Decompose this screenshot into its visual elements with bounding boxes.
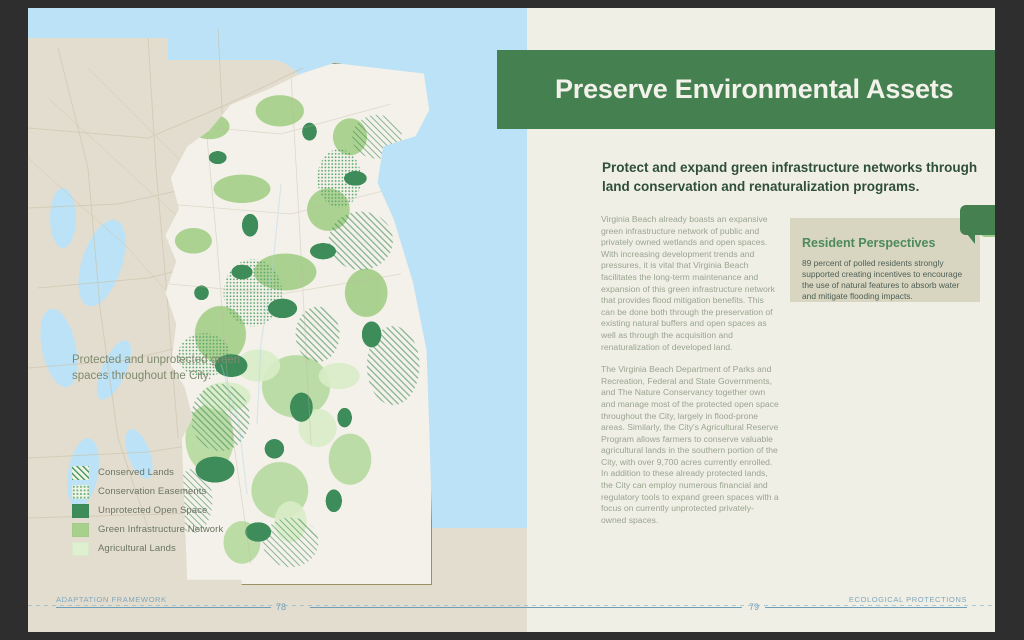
- section-subheading: Protect and expand green infrastructure …: [602, 158, 987, 196]
- footer-section-label: ECOLOGICAL PROTECTIONS: [849, 595, 967, 604]
- body-text-column: Virginia Beach already boasts an expansi…: [601, 214, 779, 537]
- spread-footer: ADAPTATION FRAMEWORK 78 ECOLOGICAL PROTE…: [28, 592, 995, 632]
- footer-rule: [56, 607, 271, 608]
- legend-label: Agricultural Lands: [98, 543, 176, 554]
- legend-item-conserved-lands: Conserved Lands: [72, 463, 223, 482]
- right-page: Preserve Environmental Assets Protect an…: [527, 8, 995, 632]
- legend-swatch-icon: [72, 523, 89, 537]
- legend-swatch-icon: [72, 542, 89, 556]
- callout-body: 89 percent of polled residents strongly …: [802, 258, 970, 302]
- body-paragraph: The Virginia Beach Department of Parks a…: [601, 364, 779, 526]
- legend-item-agricultural-lands: Agricultural Lands: [72, 539, 223, 558]
- body-paragraph: Virginia Beach already boasts an expansi…: [601, 214, 779, 353]
- legend-swatch-icon: [72, 485, 89, 499]
- legend-item-conservation-easements: Conservation Easements: [72, 482, 223, 501]
- callout-title: Resident Perspectives: [802, 236, 935, 250]
- footer-rule: [527, 607, 742, 608]
- document-viewer: Protected and unprotected green spaces t…: [0, 0, 1024, 640]
- speech-bubble-front-icon: [960, 205, 995, 235]
- speech-bubbles-icon: [960, 205, 995, 249]
- map-caption: Protected and unprotected green spaces t…: [72, 353, 242, 384]
- legend-label: Green Infrastructure Network: [98, 524, 223, 535]
- footer-rule: [765, 607, 967, 608]
- page-title: Preserve Environmental Assets: [555, 50, 975, 129]
- footer-section-label: ADAPTATION FRAMEWORK: [56, 595, 167, 604]
- legend-label: Conserved Lands: [98, 467, 174, 478]
- page-number: 78: [276, 602, 286, 612]
- map-legend: Conserved Lands Conservation Easements U…: [72, 463, 223, 558]
- legend-swatch-icon: [72, 466, 89, 480]
- legend-label: Unprotected Open Space: [98, 505, 207, 516]
- right-page-footer: ECOLOGICAL PROTECTIONS 79: [527, 592, 995, 632]
- left-page-footer: ADAPTATION FRAMEWORK 78: [28, 592, 527, 632]
- footer-rule: [310, 607, 527, 608]
- legend-label: Conservation Easements: [98, 486, 206, 497]
- page-number: 79: [749, 602, 759, 612]
- page-spread: Protected and unprotected green spaces t…: [28, 8, 995, 632]
- legend-swatch-icon: [72, 504, 89, 518]
- legend-item-unprotected-open-space: Unprotected Open Space: [72, 501, 223, 520]
- resident-perspectives-callout: Resident Perspectives 89 percent of poll…: [790, 218, 980, 302]
- section-title-bar: Preserve Environmental Assets: [497, 50, 995, 129]
- legend-item-green-infrastructure-network: Green Infrastructure Network: [72, 520, 223, 539]
- left-page: Protected and unprotected green spaces t…: [28, 8, 527, 632]
